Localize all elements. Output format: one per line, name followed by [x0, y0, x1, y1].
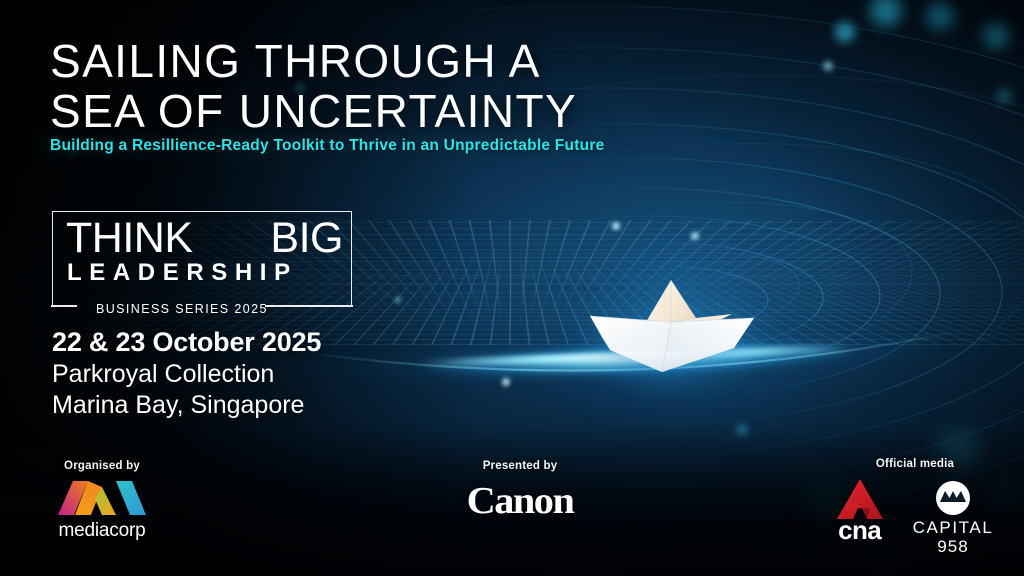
event-details: 22 & 23 October 2025 Parkroyal Collectio… [52, 325, 321, 421]
sponsor-label-organised: Organised by [22, 460, 182, 472]
logo-business-series: BUSINESS SERIES 2025 [90, 302, 274, 316]
capital-958-logo[interactable]: CAPITAL 958 [913, 479, 994, 556]
event-banner: SAILING THROUGH A SEA OF UNCERTAINTY Bui… [0, 0, 1024, 576]
cna-triangle-icon [837, 479, 883, 519]
event-date: 22 & 23 October 2025 [52, 325, 321, 359]
headline-line-1: SAILING THROUGH A [50, 36, 577, 86]
page-title: SAILING THROUGH A SEA OF UNCERTAINTY [50, 36, 577, 136]
sponsor-label-official-media: Official media [820, 458, 1010, 470]
capital-wordmark: CAPITAL [913, 518, 994, 537]
sponsor-organised-by: Organised by [22, 460, 182, 542]
mediacorp-m-icon [58, 481, 146, 515]
mediacorp-logo[interactable]: mediacorp [22, 481, 182, 542]
sponsor-label-presented: Presented by [420, 460, 620, 472]
event-venue-line-2: Marina Bay, Singapore [52, 390, 321, 421]
page-subtitle: Building a Resillience-Ready Toolkit to … [50, 137, 605, 155]
capital-wave-icon [936, 481, 970, 515]
headline-line-2: SEA OF UNCERTAINTY [50, 86, 577, 136]
cna-logo[interactable]: cna [837, 479, 883, 543]
sponsor-presented-by: Presented by Canon [420, 460, 620, 521]
logo-word-think: THINK [66, 217, 193, 260]
logo-word-leadership: LEADERSHIP [67, 259, 343, 287]
canon-logo[interactable]: Canon [414, 481, 626, 521]
mediacorp-wordmark: mediacorp [59, 520, 146, 542]
event-venue-line-1: Parkroyal Collection [52, 359, 321, 390]
logo-think-big: THINK BIG [66, 217, 343, 260]
cna-wordmark: cna [838, 517, 881, 543]
logo-word-big: BIG [270, 217, 343, 260]
sponsor-official-media: Official media cna [820, 458, 1010, 556]
event-logo: THINK BIG LEADERSHIP BUSINESS SERIES 202… [52, 211, 352, 307]
capital-frequency: 958 [937, 537, 968, 556]
